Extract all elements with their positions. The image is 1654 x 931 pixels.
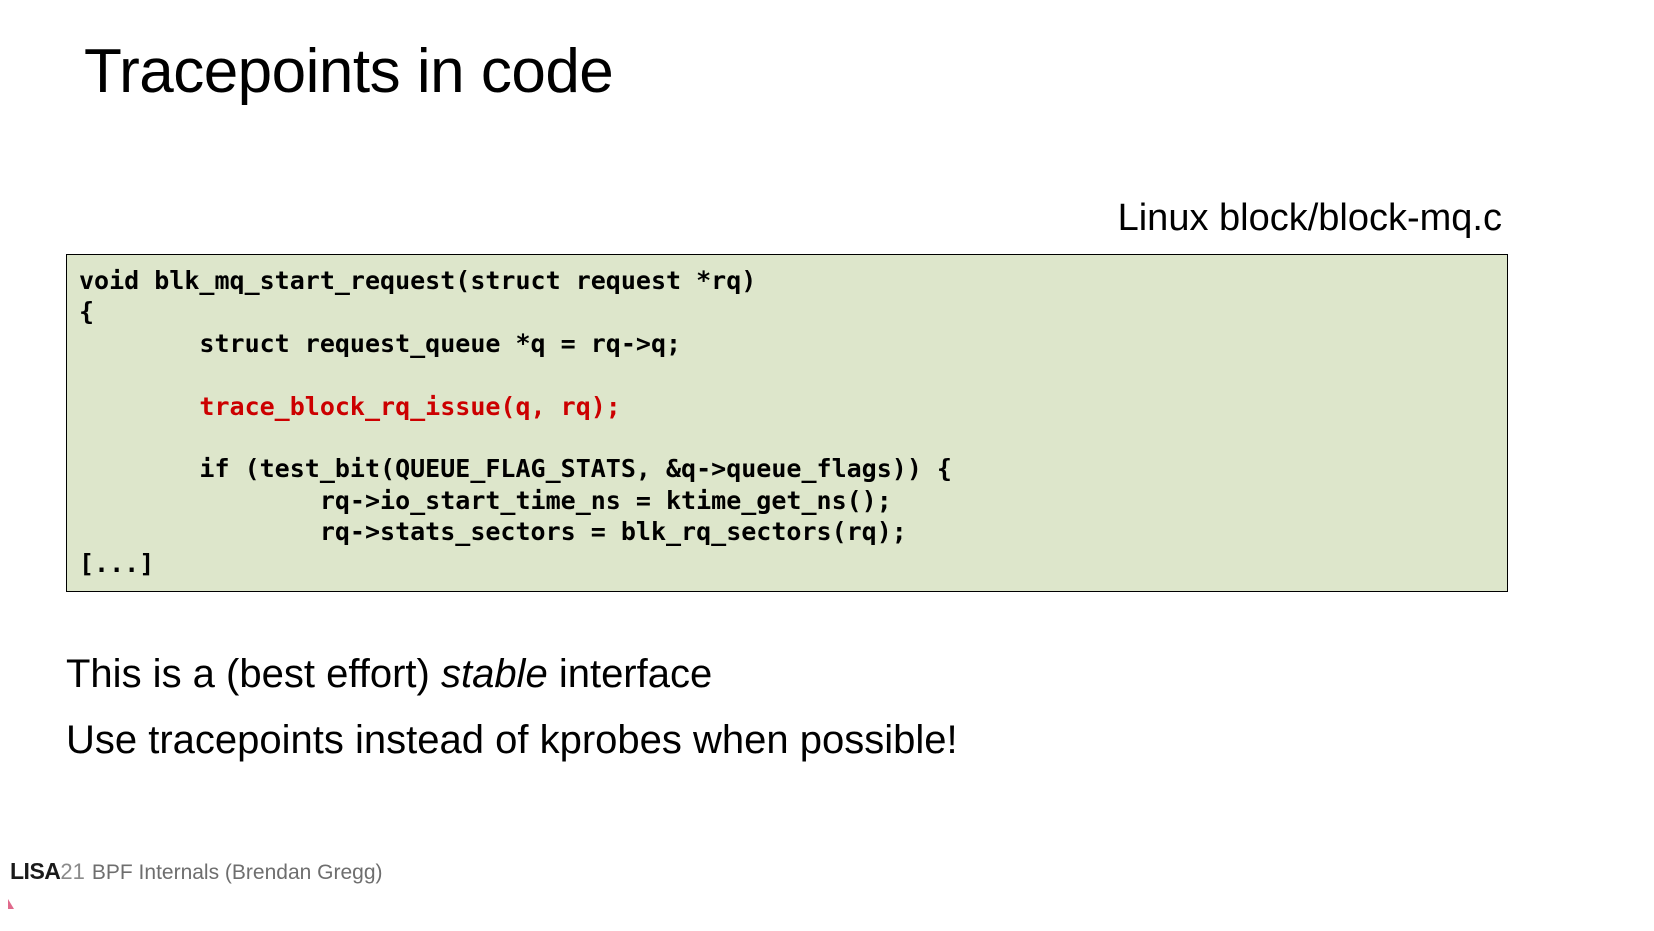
code-line-blank: [79, 422, 1495, 453]
code-line-ellipsis: [...]: [79, 548, 1495, 579]
code-block: void blk_mq_start_request(struct request…: [66, 254, 1508, 592]
footer-brand: LISA: [10, 858, 60, 885]
slide: Tracepoints in code Linux block/block-mq…: [0, 0, 1654, 931]
code-line: struct request_queue *q = rq->q;: [79, 328, 1495, 359]
source-file-label: Linux block/block-mq.c: [1118, 198, 1502, 240]
footer-deck-title: BPF Internals (Brendan Gregg): [92, 861, 383, 885]
body-text-part: This is a (best effort): [66, 652, 441, 696]
code-line: void blk_mq_start_request(struct request…: [79, 265, 1495, 296]
body-text-part: interface: [548, 652, 713, 696]
code-line-blank: [79, 359, 1495, 390]
body-text-stable-interface: This is a (best effort) stable interface: [66, 651, 712, 697]
code-line: rq->io_start_time_ns = ktime_get_ns();: [79, 485, 1495, 516]
code-line-highlighted-tracepoint: trace_block_rq_issue(q, rq);: [79, 391, 1495, 422]
code-line: {: [79, 296, 1495, 327]
body-text-emphasis: stable: [441, 652, 548, 696]
slide-footer: LISA21BPF Internals (Brendan Gregg): [10, 858, 383, 885]
code-line: rq->stats_sectors = blk_rq_sectors(rq);: [79, 516, 1495, 547]
body-text-use-tracepoints: Use tracepoints instead of kprobes when …: [66, 717, 958, 763]
footer-year: 21: [60, 859, 84, 885]
page-title: Tracepoints in code: [84, 38, 613, 106]
corner-accent-icon: [6, 897, 20, 911]
code-line: if (test_bit(QUEUE_FLAG_STATS, &q->queue…: [79, 453, 1495, 484]
